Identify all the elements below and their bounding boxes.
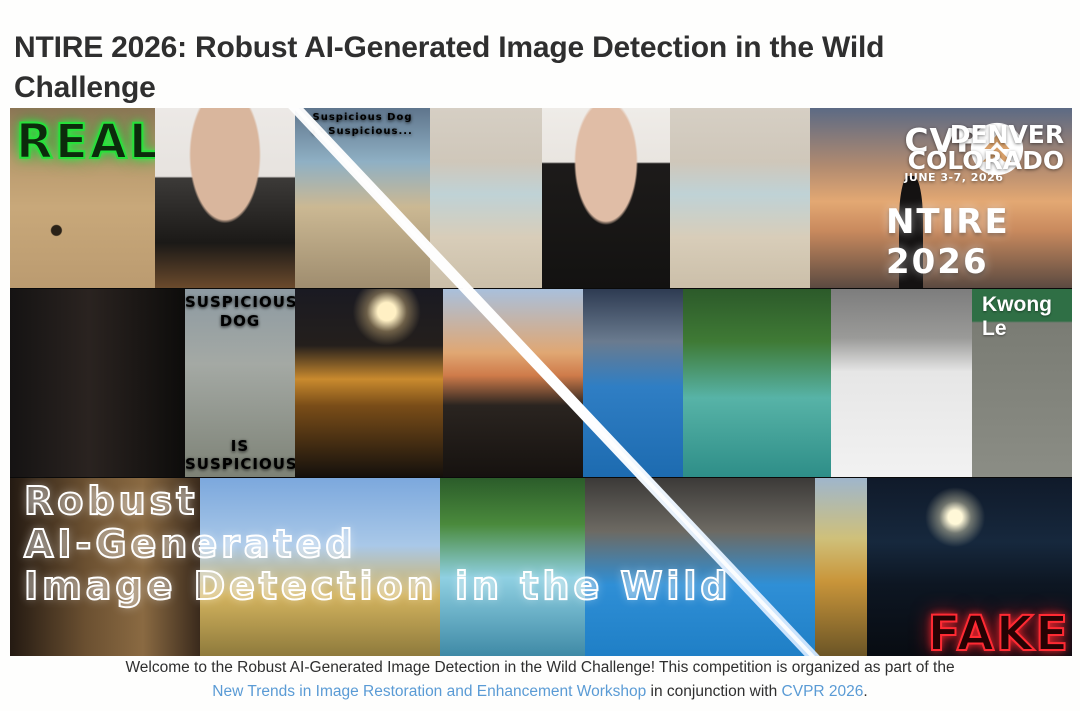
collage-cell-forest-waterfall [440,478,585,656]
meme-bottom-text: IS SUSPICIOUS... [185,437,295,473]
collage-cell-blue-sky-autumn [200,478,440,656]
caption-period: . [863,683,867,700]
collage-cell-sunset-gradient [443,289,583,477]
storefront-sign-label: Kwong Le [982,293,1072,341]
collage-cell-moonlit-lake [295,289,443,477]
collage-cell-swimmer-diving [583,289,683,477]
collage-cell-autumn-trees [815,478,867,656]
collage-cell-hooded-model [542,108,670,288]
collage-cell-suspicious-dog-small: Suspicious Dog Is Suspicious... [295,108,430,288]
challenge-page: NTIRE 2026: Robust AI-Generated Image De… [0,0,1080,711]
page-title: NTIRE 2026: Robust AI-Generated Image De… [14,28,1014,107]
ntire-workshop-label: NTIRE 2026 [886,202,1072,282]
collage-row-2: SUSPICIOUS DOG IS SUSPICIOUS... Kwong Le [10,289,1072,477]
meme-small-bottom-text: Is Suspicious... [295,126,430,139]
real-label: REAL [16,114,155,170]
collage-cell-cvpr-banner: CVPR JUNE 3-7, 2026 DENVERCOLORADO NTIRE… [810,108,1072,288]
meme-small-top-text: Suspicious Dog [295,112,430,125]
collage-cell-snow-dog [831,289,972,477]
cvpr-banner-overlay: CVPR JUNE 3-7, 2026 DENVERCOLORADO NTIRE… [810,108,1072,288]
collage-cell-surfer-walking [670,108,810,288]
cvpr-2026-link[interactable]: CVPR 2026 [782,683,864,700]
collage-cell-robust-text-archer [10,478,200,656]
collage-cell-surfer-boy [430,108,542,288]
collage-cell-suspicious-dog: SUSPICIOUS DOG IS SUSPICIOUS... [185,289,295,477]
collage-cell-night-lake-fake: FAKE [867,478,1072,656]
caption-line-1: Welcome to the Robust AI-Generated Image… [125,659,954,676]
ntire-workshop-link[interactable]: New Trends in Image Restoration and Enha… [212,683,646,700]
collage-cell-jungle-waterfall [683,289,831,477]
collage-cell-kwong-le-storefront: Kwong Le [972,289,1072,477]
collage-cell-model-scarf [155,108,295,288]
fake-label: FAKE [928,606,1070,656]
welcome-caption: Welcome to the Robust AI-Generated Image… [0,656,1080,704]
collage-cell-diving-board [585,478,815,656]
collage-cell-beach-dog-real: REAL [10,108,155,288]
caption-conjunction: in conjunction with [651,683,778,700]
cvpr-city-label: DENVERCOLORADO [908,122,1065,173]
collage-row-3: FAKE [10,478,1072,656]
meme-top-text: SUSPICIOUS DOG [185,293,295,331]
hero-collage: REAL Suspicious Dog Is Suspicious... CVP… [10,108,1072,656]
collage-cell-bar-woman [10,289,185,477]
collage-row-1: REAL Suspicious Dog Is Suspicious... CVP… [10,108,1072,288]
